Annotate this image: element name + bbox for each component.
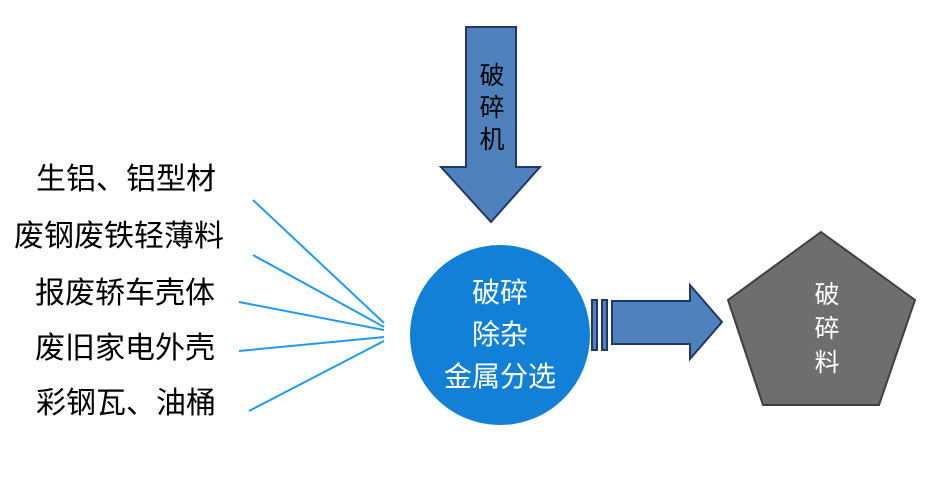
crusher-arrow-label: 破 碎 机: [474, 60, 510, 156]
output-pentagon-label: 破 碎 料: [810, 278, 844, 380]
output-right-arrow: [612, 285, 722, 359]
input-label-raw-aluminum: 生铝、铝型材: [36, 165, 216, 195]
connector-line-2: [253, 255, 384, 327]
output-pentagon-label-char-3: 料: [810, 346, 844, 380]
diagram-canvas: 生铝、铝型材 废钢废铁轻薄料 报废轿车壳体 废旧家电外壳 彩钢瓦、油桶 破 碎 …: [0, 0, 931, 481]
input-label-appliance-shell: 废旧家电外壳: [35, 334, 215, 364]
process-circle-line-1: 破碎: [410, 272, 590, 314]
connector-line-1: [253, 200, 384, 323]
connector-line-4: [239, 337, 384, 351]
connector-lines: [239, 200, 384, 411]
connector-line-5: [249, 341, 384, 411]
process-circle-label: 破碎 除杂 金属分选: [410, 272, 590, 398]
output-pentagon-label-char-1: 破: [810, 278, 844, 312]
crusher-arrow-label-char-2: 碎: [474, 92, 510, 124]
input-label-scrapped-car-body: 报废轿车壳体: [35, 279, 215, 309]
connector-bar-2: [602, 300, 607, 350]
crusher-arrow-label-char-1: 破: [474, 60, 510, 92]
input-label-color-steel-tile: 彩钢瓦、油桶: [36, 389, 216, 419]
crusher-arrow-label-char-3: 机: [474, 124, 510, 156]
process-circle-line-3: 金属分选: [410, 356, 590, 398]
process-circle-line-2: 除杂: [410, 314, 590, 356]
output-pentagon-label-char-2: 碎: [810, 312, 844, 346]
connector-bar-1: [592, 300, 597, 350]
input-label-scrap-steel: 废钢废铁轻薄料: [14, 222, 224, 252]
